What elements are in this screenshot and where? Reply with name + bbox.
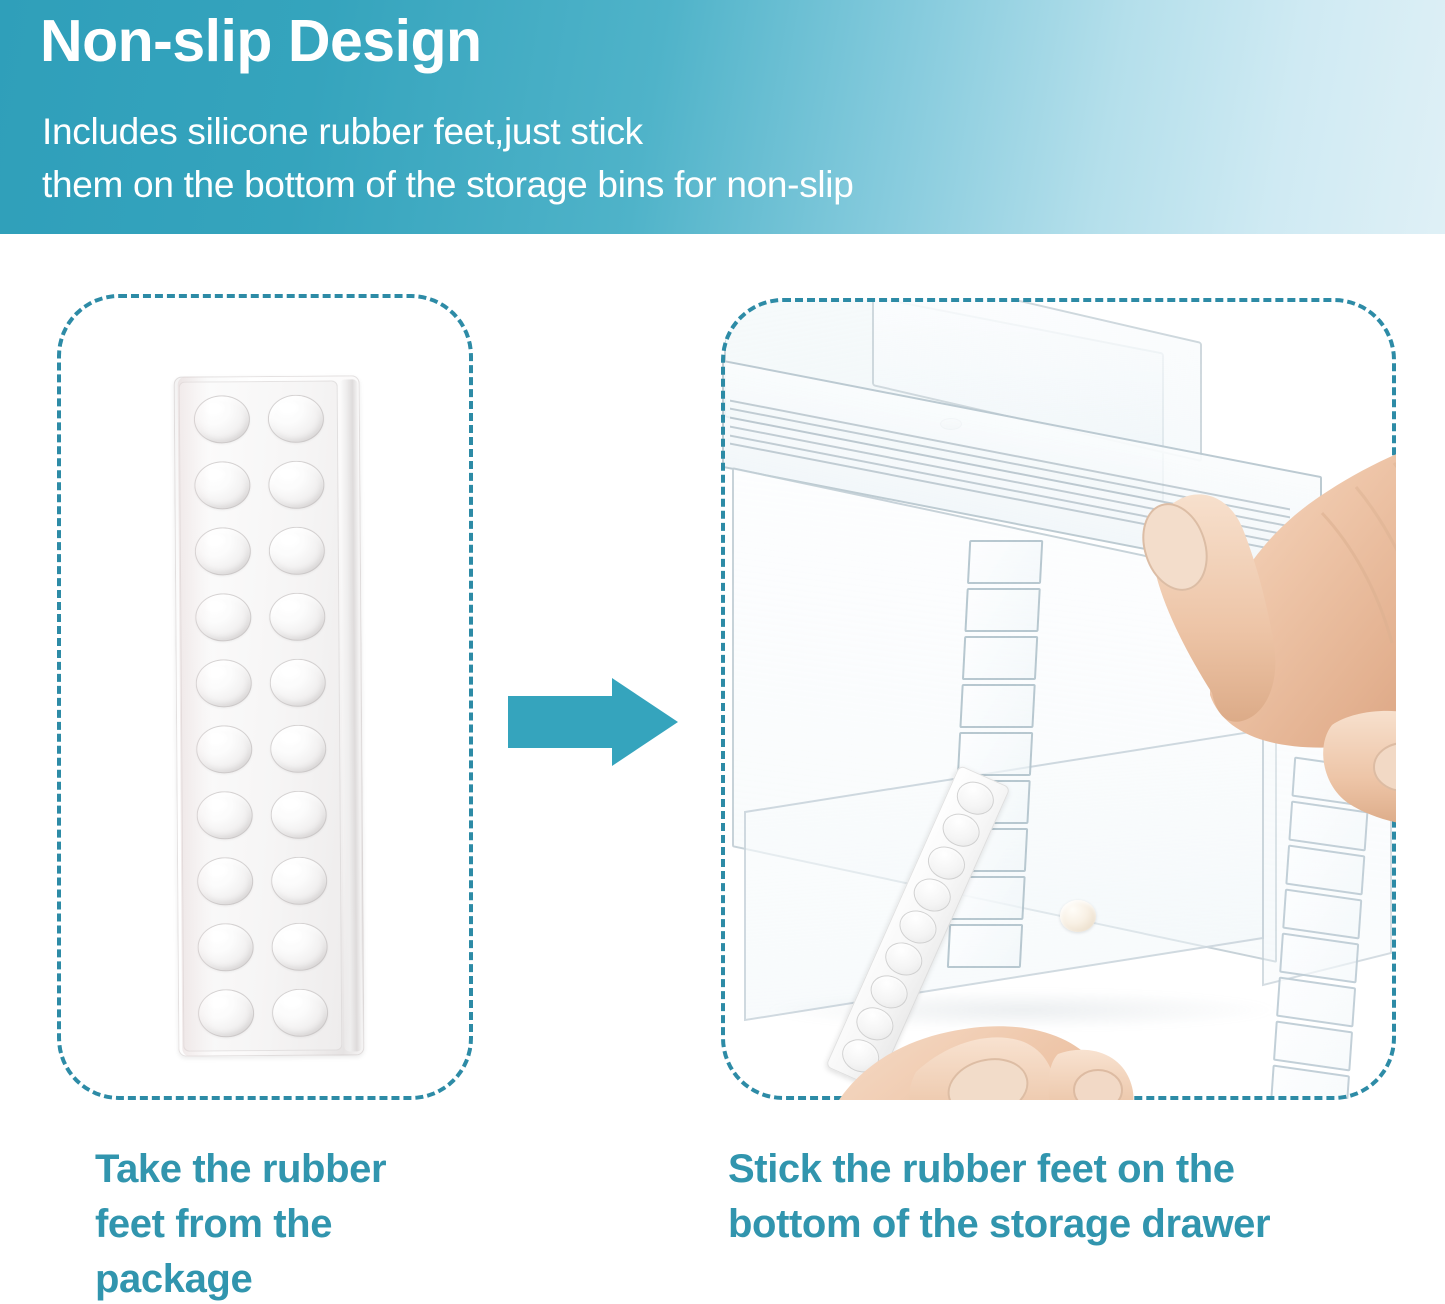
rubber-foot — [188, 454, 256, 516]
rubber-foot — [264, 784, 332, 846]
rubber-foot-dome — [197, 923, 253, 971]
rubber-foot — [263, 520, 331, 582]
header-banner: Non-slip Design Includes silicone rubber… — [0, 0, 1445, 234]
upper-hand-glyph — [1060, 395, 1396, 955]
rubber-foot — [191, 916, 259, 978]
rubber-foot-dome — [197, 791, 253, 839]
header-subtitle-line-2: them on the bottom of the storage bins f… — [42, 159, 854, 212]
rubber-foot-dome — [196, 725, 252, 773]
rubber-foot-dome — [268, 461, 324, 509]
rubber-foot — [189, 520, 257, 582]
rubber-foot — [191, 850, 259, 912]
rubber-foot-dome — [197, 857, 253, 905]
rubber-foot — [263, 586, 331, 648]
step-2-caption: Stick the rubber feet on the bottom of t… — [728, 1142, 1428, 1252]
rubber-foot-dome — [194, 395, 250, 443]
rubber-foot — [189, 586, 257, 648]
step-2-caption-line-1: Stick the rubber feet on the — [728, 1142, 1428, 1197]
rubber-foot — [265, 850, 333, 912]
rubber-foot-dome — [195, 593, 251, 641]
rubber-foot — [262, 388, 330, 450]
rubber-foot — [188, 388, 256, 450]
rubber-foot-dome — [269, 527, 325, 575]
upper-hand — [1060, 395, 1396, 955]
arrow-right-glyph — [508, 678, 678, 766]
step-1-caption-line-2: feet from the — [95, 1197, 495, 1252]
silicone-feet-blister-pack — [174, 375, 365, 1056]
rubber-foot-dome — [194, 461, 250, 509]
rubber-foot — [190, 652, 258, 714]
rubber-foot — [266, 982, 334, 1044]
rubber-foot — [264, 718, 332, 780]
step-1-caption-line-3: package — [95, 1252, 495, 1304]
rubber-foot-dome — [271, 923, 327, 971]
step-1-caption: Take the rubber feet from the package — [95, 1142, 495, 1304]
rubber-foot — [190, 784, 258, 846]
rubber-foot — [192, 982, 260, 1044]
page-title: Non-slip Design — [40, 9, 482, 74]
step-2-caption-line-2: bottom of the storage drawer — [728, 1197, 1428, 1252]
rubber-foot-dome — [270, 725, 326, 773]
rubber-foot — [190, 718, 258, 780]
rubber-foot-dome — [272, 989, 328, 1037]
rubber-foot-dome — [196, 659, 252, 707]
feet-grid — [188, 388, 335, 1045]
lower-hand-glyph — [812, 890, 1242, 1100]
rubber-foot-dome — [269, 593, 325, 641]
rubber-foot-dome — [271, 791, 327, 839]
step-1-caption-line-1: Take the rubber — [95, 1142, 495, 1197]
rubber-foot-dome — [198, 989, 254, 1037]
rubber-foot — [264, 652, 332, 714]
rubber-foot-dome — [268, 395, 324, 443]
header-subtitle: Includes silicone rubber feet,just stick… — [42, 106, 854, 211]
rubber-foot — [262, 454, 330, 516]
arrow-right-icon — [508, 678, 678, 766]
header-subtitle-line-1: Includes silicone rubber feet,just stick — [42, 106, 854, 159]
infographic-page: Non-slip Design Includes silicone rubber… — [0, 0, 1445, 1304]
rubber-foot-dome — [195, 527, 251, 575]
rubber-foot-dome — [271, 857, 327, 905]
rubber-foot-dome — [270, 659, 326, 707]
rubber-foot — [265, 916, 333, 978]
lower-hand — [812, 890, 1242, 1100]
